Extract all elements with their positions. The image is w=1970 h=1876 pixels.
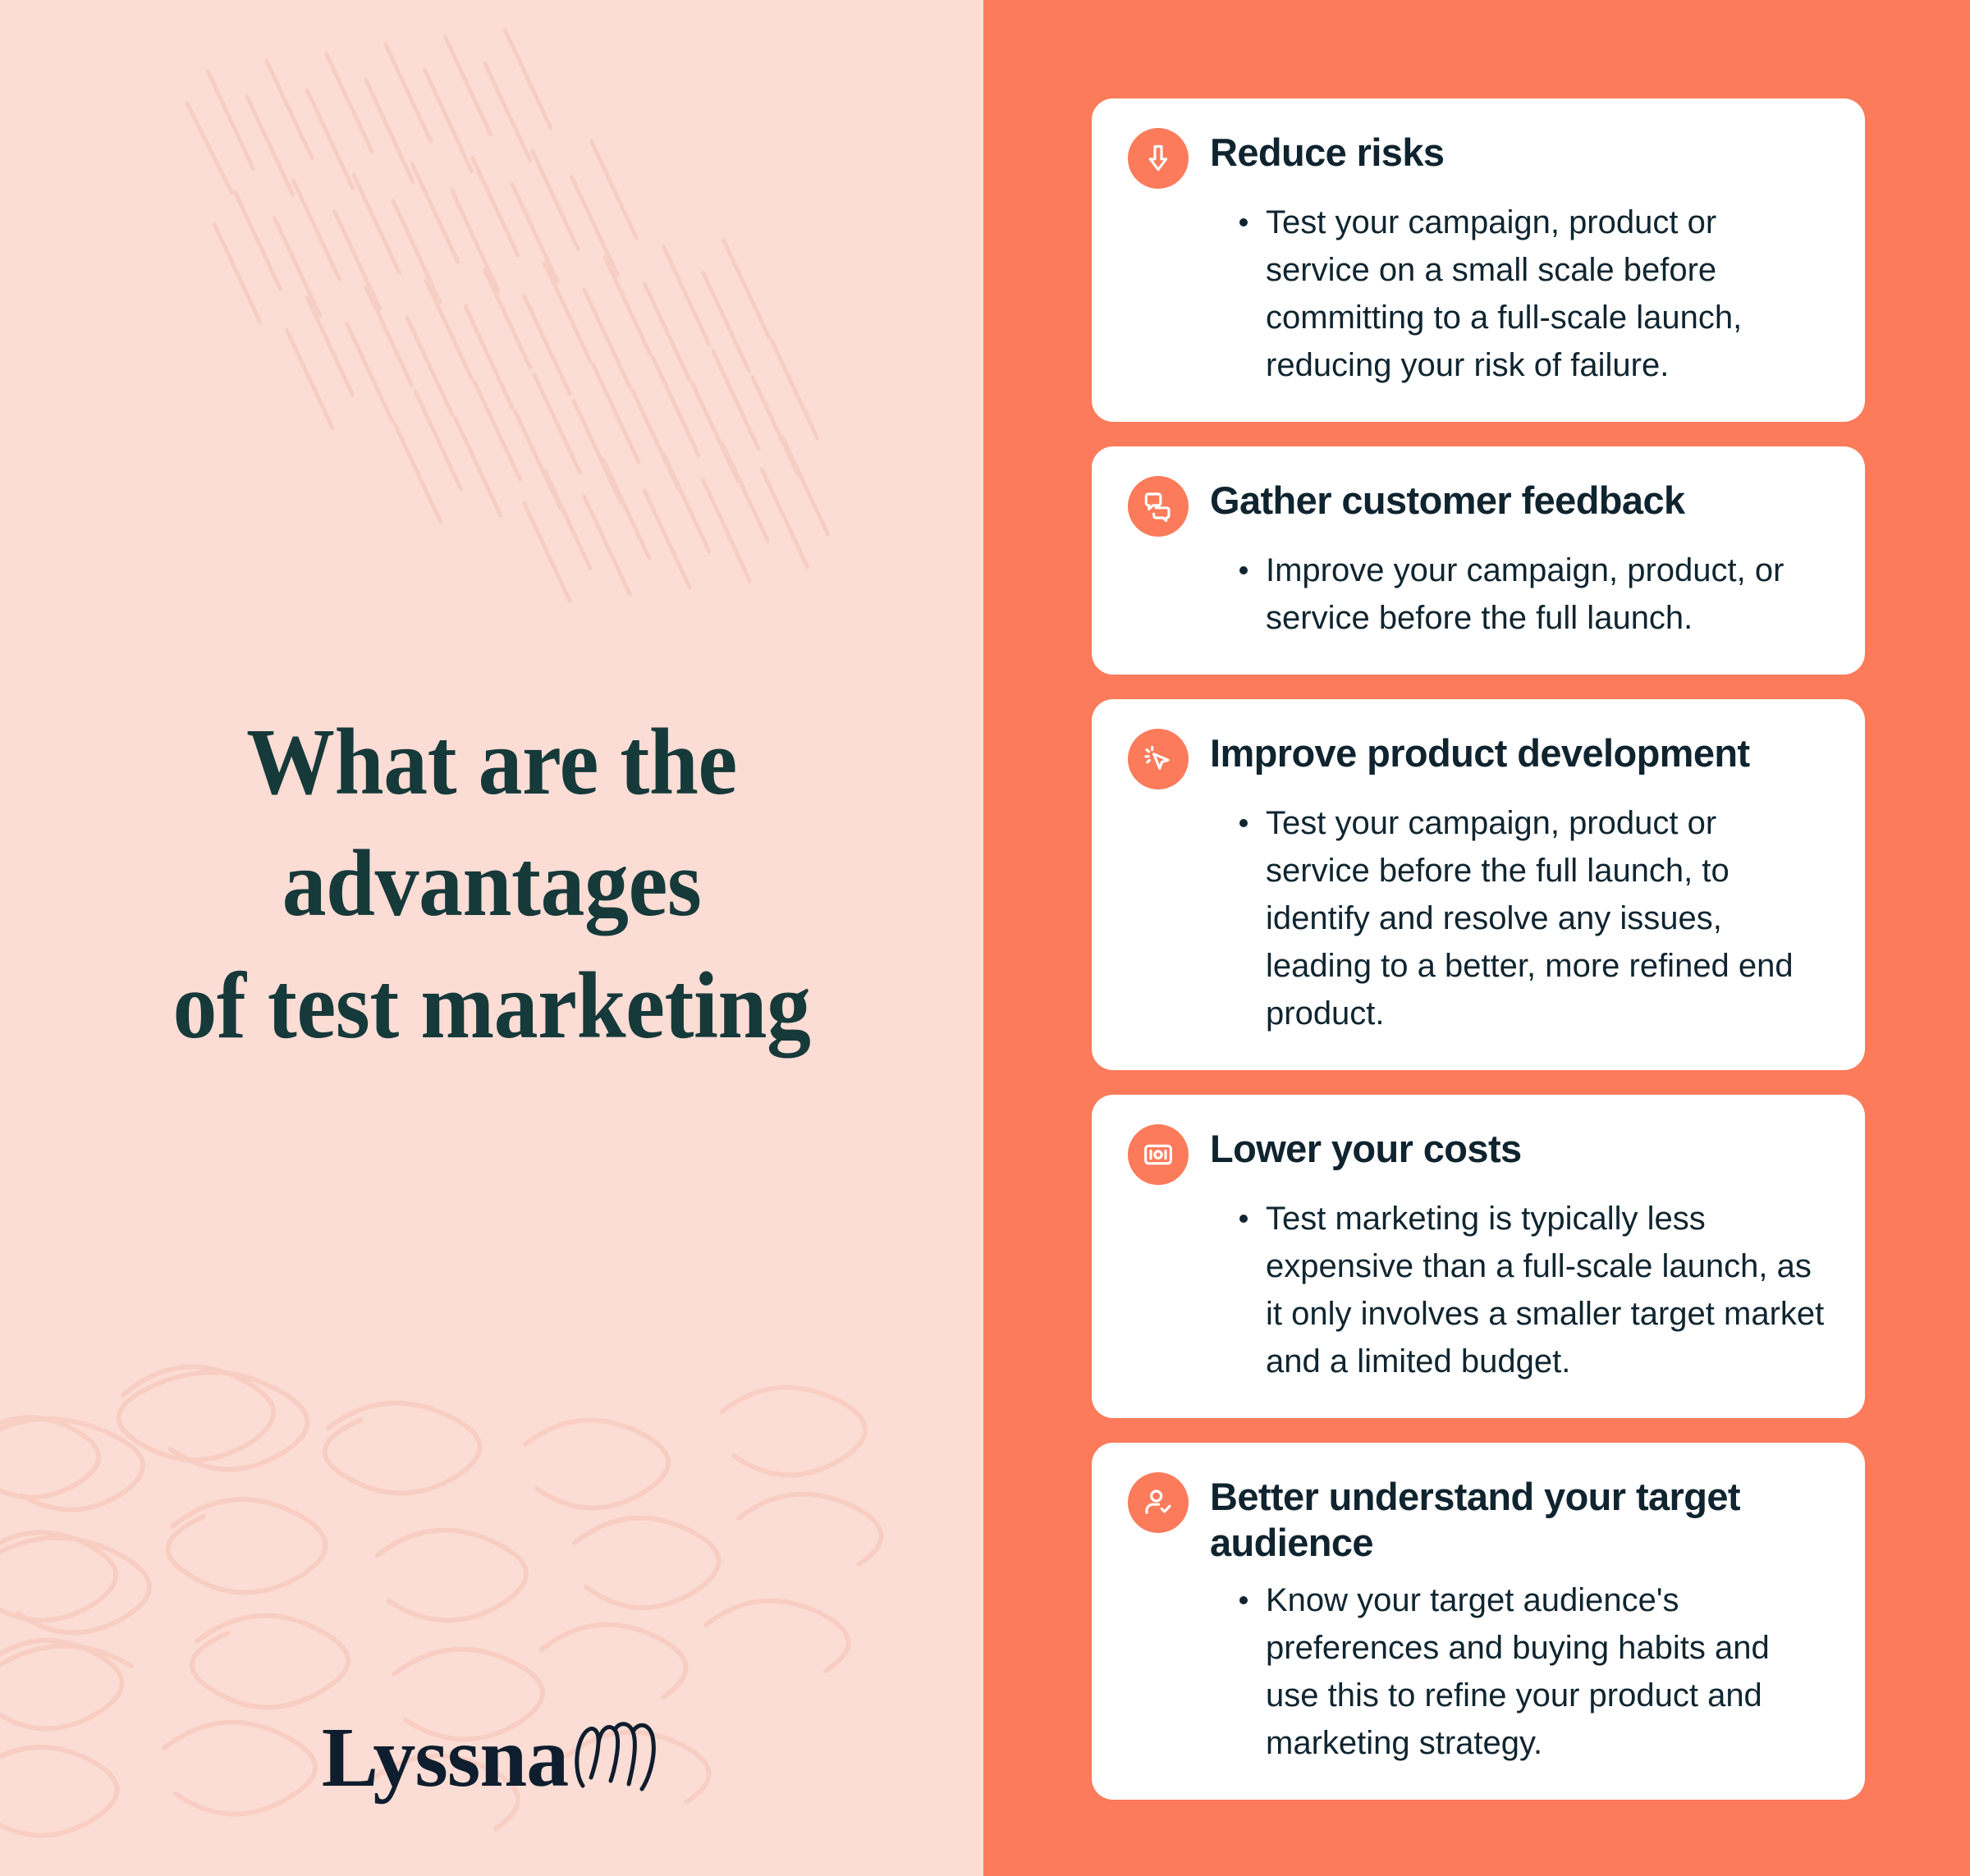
card-header: Lower your costs [1128, 1123, 1829, 1185]
card-title: Lower your costs [1210, 1123, 1522, 1172]
card-bullets: Improve your campaign, product, or servi… [1128, 547, 1829, 642]
card-bullets: Test marketing is typically less expensi… [1128, 1195, 1829, 1385]
headline-line-3: of test marketing [34, 945, 949, 1067]
headline-line-1: What are the [34, 702, 949, 823]
card-bullets: Test your campaign, product or service o… [1128, 199, 1829, 389]
bullet-item: Test your campaign, product or service o… [1235, 199, 1829, 389]
card-bullets: Know your target audience's preferences … [1128, 1576, 1829, 1767]
advantages-card-list: Reduce risks Test your campaign, product… [1092, 98, 1865, 1800]
bullet-item: Test your campaign, product or service b… [1235, 799, 1829, 1037]
card-lower-your-costs: Lower your costs Test marketing is typic… [1092, 1095, 1865, 1418]
card-title: Improve product development [1210, 727, 1750, 776]
arrow-down-icon [1128, 128, 1189, 189]
bullet-item: Know your target audience's preferences … [1235, 1576, 1829, 1767]
infographic-page: What are the advantages of test marketin… [0, 0, 1970, 1876]
right-panel: Reduce risks Test your campaign, product… [983, 0, 1970, 1876]
card-gather-customer-feedback: Gather customer feedback Improve your ca… [1092, 446, 1865, 675]
card-better-understand-target-audience: Better understand your target audience K… [1092, 1443, 1865, 1800]
card-bullets: Test your campaign, product or service b… [1128, 799, 1829, 1037]
page-title: What are the advantages of test marketin… [34, 702, 949, 1067]
user-check-icon [1128, 1472, 1189, 1533]
card-improve-product-development: Improve product development Test your ca… [1092, 699, 1865, 1070]
card-header: Reduce risks [1128, 126, 1829, 189]
loop-scribble-icon [571, 1720, 662, 1796]
card-header: Improve product development [1128, 727, 1829, 789]
card-title: Better understand your target audience [1210, 1471, 1829, 1567]
bullet-item: Test marketing is typically less expensi… [1235, 1195, 1829, 1385]
lyssna-logo: Lyssna [0, 1715, 983, 1801]
headline-line-2: advantages [34, 823, 949, 945]
left-panel: What are the advantages of test marketin… [0, 0, 983, 1876]
card-header: Better understand your target audience [1128, 1471, 1829, 1567]
card-title: Reduce risks [1210, 126, 1444, 176]
bullet-item: Improve your campaign, product, or servi… [1235, 547, 1829, 642]
card-header: Gather customer feedback [1128, 474, 1829, 537]
chat-bubbles-icon [1128, 476, 1189, 537]
logo-wordmark: Lyssna [322, 1715, 568, 1801]
card-title: Gather customer feedback [1210, 474, 1685, 524]
banknote-icon [1128, 1124, 1189, 1185]
cursor-click-icon [1128, 729, 1189, 789]
card-reduce-risks: Reduce risks Test your campaign, product… [1092, 98, 1865, 422]
